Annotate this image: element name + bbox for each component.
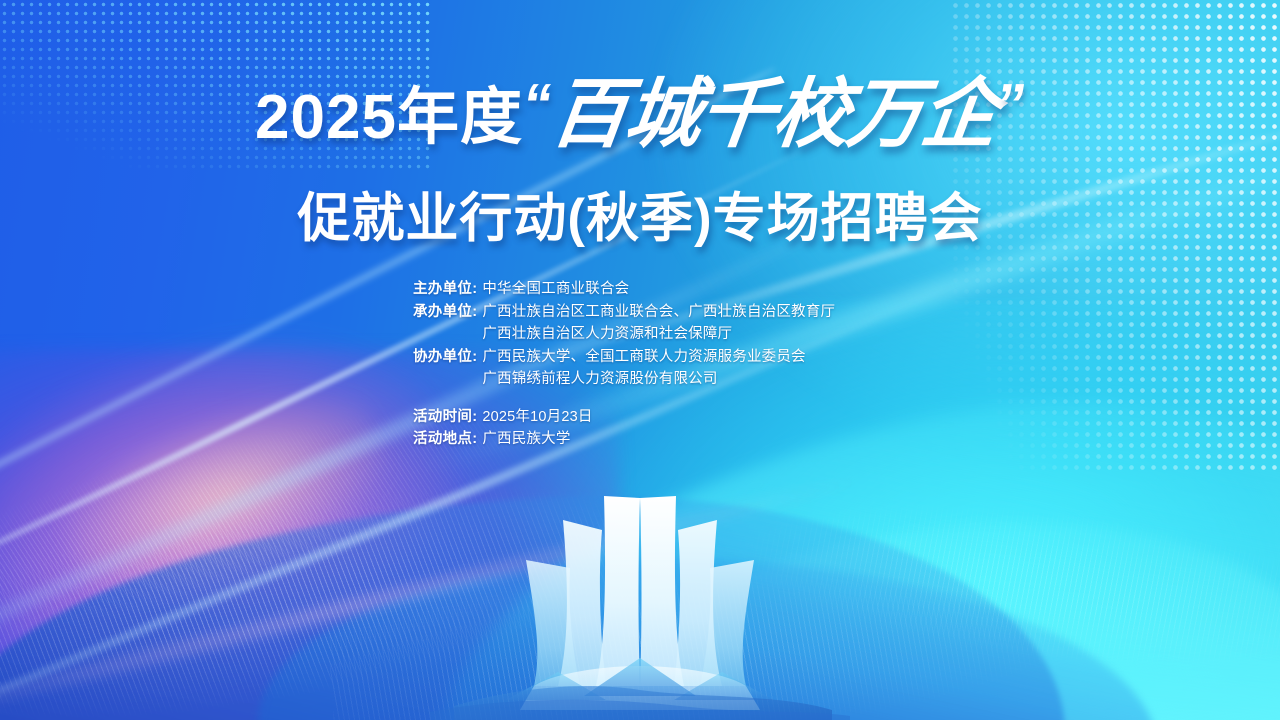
info-values-host: 中华全国工商业联合会	[477, 282, 973, 297]
info-label-host: 主办单位:	[413, 282, 477, 297]
info-value: 2025年10月23日	[482, 410, 973, 425]
info-values-coorganizer: 广西民族大学、全国工商联人力资源服务业委员会 广西锦绣前程人力资源股份有限公司	[477, 350, 973, 387]
info-block: 主办单位: 中华全国工商业联合会 承办单位: 广西壮族自治区工商业联合会、广西壮…	[413, 282, 973, 455]
info-value: 广西壮族自治区工商业联合会、广西壮族自治区教育厅	[482, 305, 973, 320]
info-row-organizer: 承办单位: 广西壮族自治区工商业联合会、广西壮族自治区教育厅 广西壮族自治区人力…	[413, 305, 973, 342]
info-label-event-time: 活动时间:	[413, 410, 477, 425]
info-values-event-time: 2025年10月23日	[477, 410, 973, 425]
info-values-organizer: 广西壮族自治区工商业联合会、广西壮族自治区教育厅 广西壮族自治区人力资源和社会保…	[477, 305, 973, 342]
poster-content: 2025年度 “ 百城千校万企 ” 促就业行动(秋季)专场招聘会 主办单位: 中…	[0, 0, 1280, 720]
info-row-host: 主办单位: 中华全国工商业联合会	[413, 282, 973, 297]
info-row-coorganizer: 协办单位: 广西民族大学、全国工商联人力资源服务业委员会 广西锦绣前程人力资源股…	[413, 350, 973, 387]
info-value: 广西壮族自治区人力资源和社会保障厅	[482, 327, 973, 342]
info-row-event-place: 活动地点: 广西民族大学	[413, 432, 973, 447]
info-spacer	[413, 395, 973, 410]
info-label-coorganizer: 协办单位:	[413, 350, 477, 365]
poster-canvas: 2025年度 “ 百城千校万企 ” 促就业行动(秋季)专场招聘会 主办单位: 中…	[0, 0, 1280, 720]
info-value: 广西民族大学	[482, 432, 973, 447]
title-brush-text: 百城千校万企	[547, 76, 1000, 152]
info-value: 广西民族大学、全国工商联人力资源服务业委员会	[482, 350, 973, 365]
info-row-event-time: 活动时间: 2025年10月23日	[413, 410, 973, 425]
info-label-event-place: 活动地点:	[413, 432, 477, 447]
info-value: 中华全国工商业联合会	[482, 282, 973, 297]
info-value: 广西锦绣前程人力资源股份有限公司	[482, 372, 973, 387]
title-year: 2025年度	[255, 87, 523, 149]
info-label-organizer: 承办单位:	[413, 305, 477, 320]
info-values-event-place: 广西民族大学	[477, 432, 973, 447]
subtitle: 促就业行动(秋季)专场招聘会	[0, 176, 1280, 252]
main-title: 2025年度 “ 百城千校万企 ”	[0, 74, 1280, 150]
